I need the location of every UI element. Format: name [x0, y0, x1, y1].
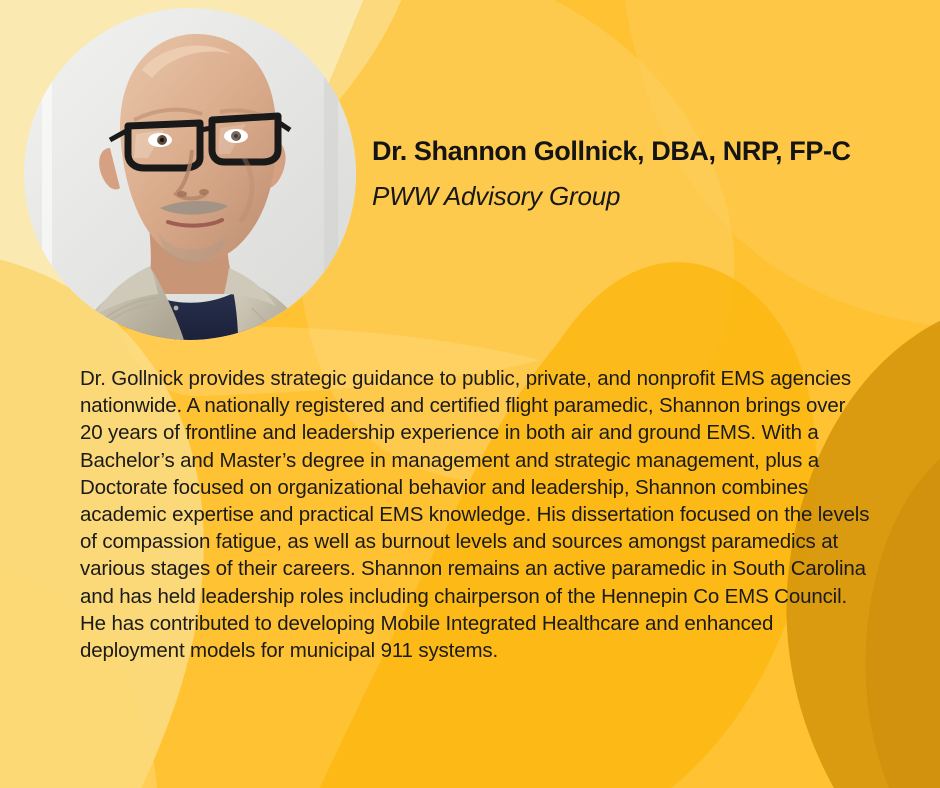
- speaker-organization: PWW Advisory Group: [372, 180, 912, 212]
- bio-paragraph: Dr. Gollnick provides strategic guidance…: [80, 365, 870, 664]
- speaker-name: Dr. Shannon Gollnick, DBA, NRP, FP-C: [372, 134, 912, 168]
- speaker-portrait: [24, 8, 356, 340]
- speaker-bio: Dr. Gollnick provides strategic guidance…: [80, 365, 870, 664]
- speaker-header: Dr. Shannon Gollnick, DBA, NRP, FP-C PWW…: [372, 134, 912, 212]
- speaker-bio-card: Dr. Shannon Gollnick, DBA, NRP, FP-C PWW…: [0, 0, 940, 788]
